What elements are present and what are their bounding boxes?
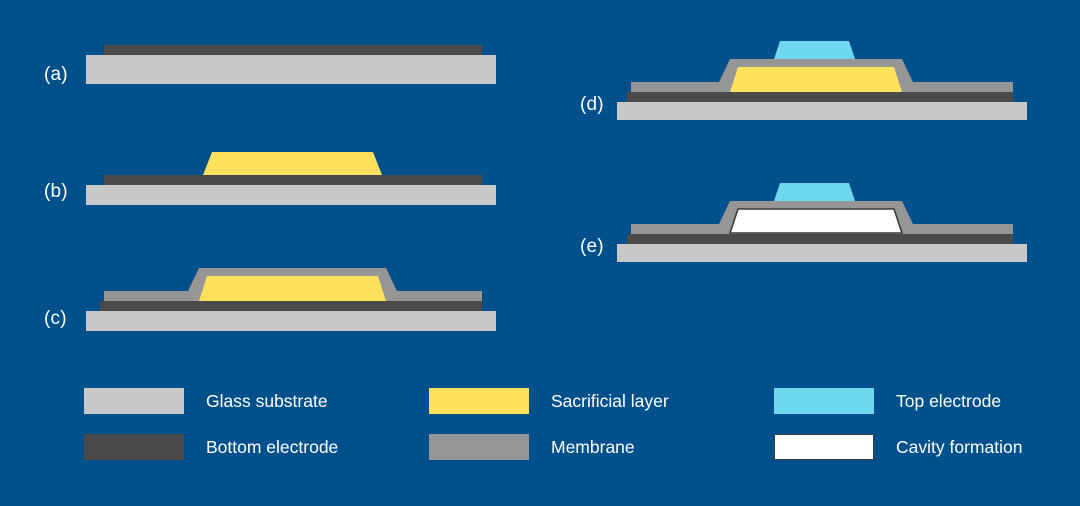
- top-electrode-swatch: [774, 388, 874, 414]
- membrane-swatch: [429, 434, 529, 460]
- panel-a-label: (a): [44, 64, 68, 86]
- sacrificial-layer-layer: [203, 152, 382, 175]
- glass-substrate-layer: [86, 55, 496, 84]
- legend-label-sacrificial-layer: Sacrificial layer: [551, 391, 669, 412]
- sacrificial-layer-layer: [730, 67, 902, 92]
- legend-item-sacrificial-layer: Sacrificial layer: [429, 388, 669, 414]
- legend-item-cavity-formation: Cavity formation: [774, 434, 1022, 460]
- panel-b-cross-section: [86, 147, 496, 205]
- legend-label-cavity-formation: Cavity formation: [896, 437, 1022, 458]
- legend-item-glass-substrate: Glass substrate: [84, 388, 328, 414]
- legend-label-membrane: Membrane: [551, 437, 635, 458]
- legend-label-bottom-electrode: Bottom electrode: [206, 437, 338, 458]
- bottom-electrode-layer: [627, 92, 1013, 102]
- panel-c-label: (c): [44, 308, 67, 330]
- legend-item-top-electrode: Top electrode: [774, 388, 1001, 414]
- legend-label-top-electrode: Top electrode: [896, 391, 1001, 412]
- legend-item-membrane: Membrane: [429, 434, 635, 460]
- legend-item-bottom-electrode: Bottom electrode: [84, 434, 338, 460]
- panel-d-cross-section: [617, 38, 1027, 120]
- bottom-electrode-layer: [104, 175, 482, 185]
- legend: Glass substrate Bottom electrode Sacrifi…: [84, 388, 1034, 473]
- bottom-electrode-layer: [627, 234, 1013, 244]
- glass-substrate-swatch: [84, 388, 184, 414]
- panel-e-cross-section: [617, 180, 1027, 262]
- glass-substrate-layer: [617, 244, 1027, 262]
- glass-substrate-layer: [86, 311, 496, 331]
- glass-substrate-layer: [86, 185, 496, 205]
- panel-e-label: (e): [580, 236, 604, 258]
- panel-b: [86, 147, 496, 205]
- panel-e: [617, 180, 1027, 262]
- sacrificial-layer-swatch: [429, 388, 529, 414]
- panel-b-label: (b): [44, 181, 68, 203]
- panel-c: [86, 263, 496, 331]
- glass-substrate-layer: [617, 102, 1027, 120]
- panel-a: [86, 45, 496, 90]
- bottom-electrode-layer: [104, 45, 482, 55]
- sacrificial-layer-layer: [199, 276, 386, 301]
- cavity-layer: [730, 209, 902, 233]
- panel-a-cross-section: [86, 45, 496, 90]
- panel-c-cross-section: [86, 263, 496, 331]
- top-electrode-layer: [774, 41, 855, 59]
- legend-label-glass-substrate: Glass substrate: [206, 391, 328, 412]
- panel-d-label: (d): [580, 94, 604, 116]
- panel-d: [617, 38, 1027, 120]
- top-electrode-layer: [774, 183, 855, 201]
- bottom-electrode-swatch: [84, 434, 184, 460]
- bottom-electrode-layer: [100, 301, 482, 311]
- figure-canvas: (a) (b) (c): [0, 0, 1080, 506]
- cavity-formation-swatch: [774, 434, 874, 460]
